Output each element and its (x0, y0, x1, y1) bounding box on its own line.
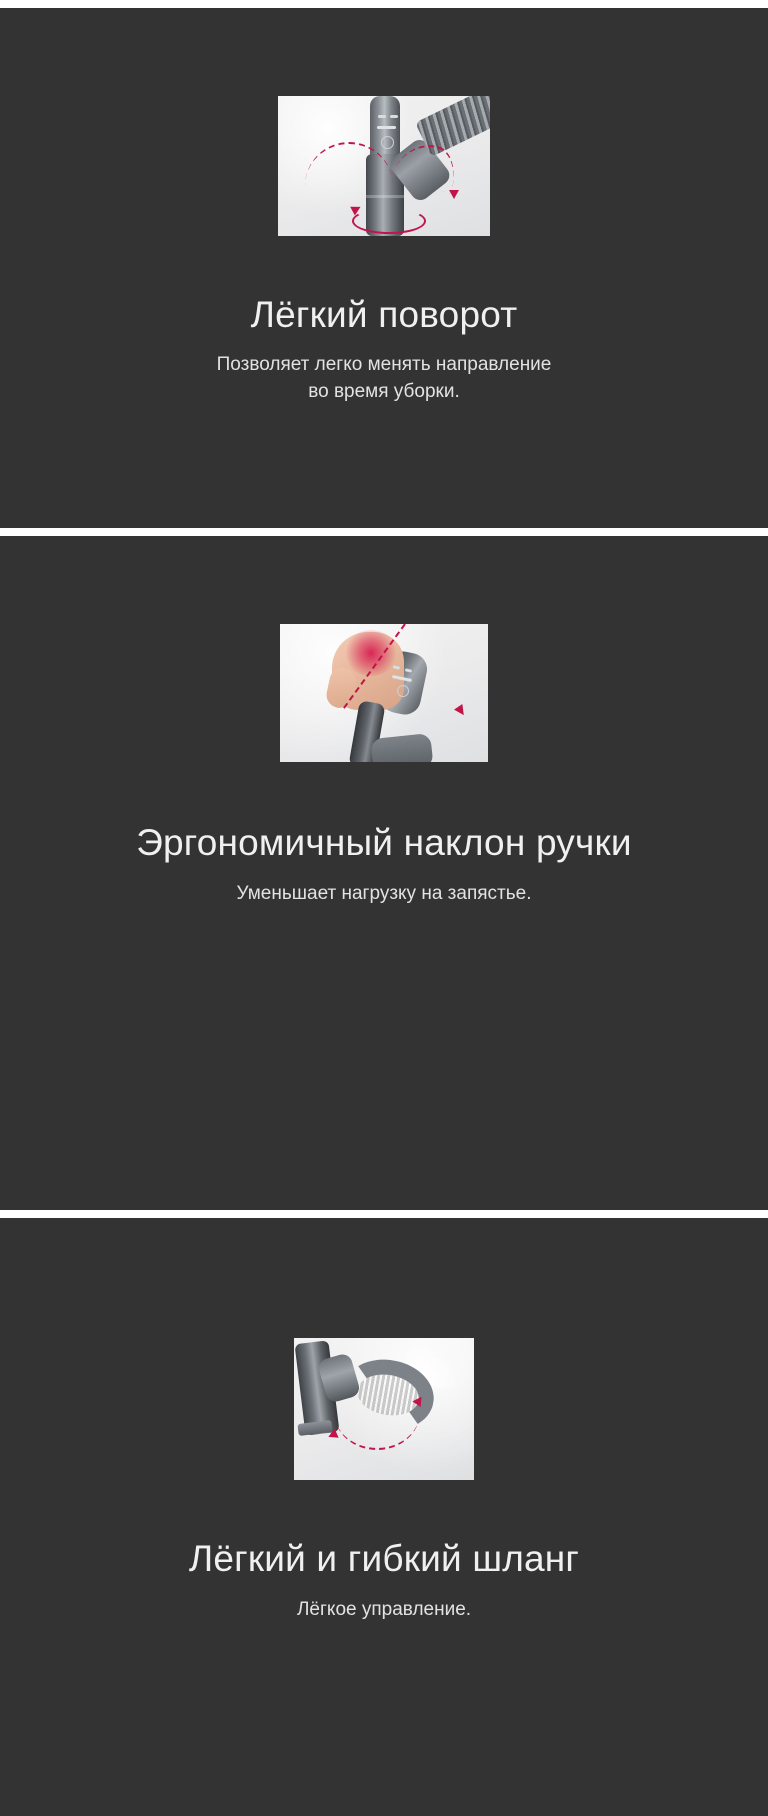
vacuum-swivel-joint-photo (278, 96, 490, 236)
panel-body-swivel: Позволяет легко менять направление во вр… (217, 351, 552, 406)
panel-heading-swivel: Лёгкий поворот (251, 294, 518, 337)
down-arrow-icon (449, 190, 459, 199)
minus-button-icon (390, 115, 398, 118)
wand-ring-graphic (366, 195, 404, 198)
control-bar-icon (377, 126, 396, 129)
panel-divider-1 (0, 528, 768, 536)
panel-heading-flexible-hose: Лёгкий и гибкий шланг (189, 1538, 579, 1581)
top-divider (0, 0, 768, 8)
hand-on-handle-photo (280, 624, 488, 762)
power-button-icon (381, 136, 394, 149)
feature-page: Лёгкий поворот Позволяет легко менять на… (0, 0, 768, 1816)
feature-panel-ergonomic-handle: Эргономичный наклон ручки Уменьшает нагр… (0, 536, 768, 1210)
feature-panel-flexible-hose: Лёгкий и гибкий шланг Лёгкое управление. (0, 1218, 768, 1816)
feature-panel-swivel: Лёгкий поворот Позволяет легко менять на… (0, 8, 768, 528)
panel-body-line: Уменьшает нагрузку на запястье. (237, 883, 532, 904)
panel-body-ergonomic-handle: Уменьшает нагрузку на запястье. (237, 880, 532, 908)
flexible-hose-photo (294, 1338, 474, 1480)
panel-body-line: Лёгкое управление. (297, 1599, 471, 1620)
panel-heading-ergonomic-handle: Эргономичный наклон ручки (136, 822, 632, 865)
panel-body-line: Позволяет легко менять направление (217, 354, 552, 375)
panel-body-flexible-hose: Лёгкое управление. (297, 1596, 471, 1624)
panel-body-line: во время уборки. (308, 381, 460, 402)
panel-divider-2 (0, 1210, 768, 1218)
hose-segment-graphic (346, 1362, 434, 1420)
plus-button-icon (378, 115, 386, 118)
spin-ellipse-icon (352, 208, 426, 234)
